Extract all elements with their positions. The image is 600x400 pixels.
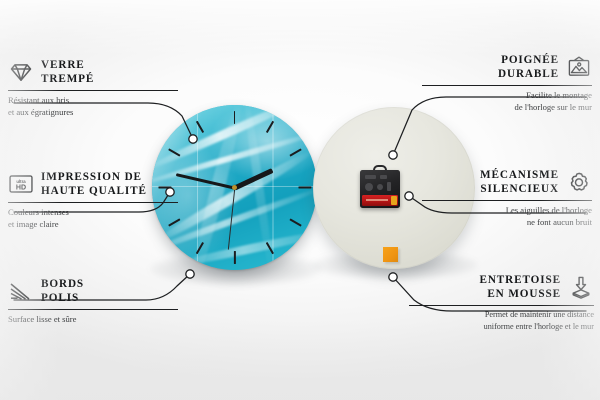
feature-divider xyxy=(8,309,178,310)
feature-heading: MÉCANISME SILENCIEUX xyxy=(422,168,592,197)
feature-divider xyxy=(422,200,592,201)
feature-entretoise-en-mousse: ENTRETOISE EN MOUSSE Permet de maintenir… xyxy=(409,273,594,332)
feature-description: Les aiguilles de l'horloge ne font aucun… xyxy=(422,204,592,228)
feature-verre-trempe: VERRE TREMPÉ Résistant aux bris et aux é… xyxy=(8,58,178,118)
feature-title: ENTRETOISE EN MOUSSE xyxy=(479,273,561,302)
feature-heading: VERRE TREMPÉ xyxy=(8,58,178,87)
feature-bords-polis: BORDS POLIS Surface lisse et sûre xyxy=(8,277,178,325)
feature-divider xyxy=(8,202,178,203)
svg-text:ultra: ultra xyxy=(16,179,26,184)
diamond-icon xyxy=(8,59,34,85)
feature-heading: ultra HD IMPRESSION DE HAUTE QUALITÉ xyxy=(8,170,178,199)
ultra-hd-icon: ultra HD xyxy=(8,171,34,197)
feature-mecanisme-silencieux: MÉCANISME SILENCIEUX Les aiguilles de l'… xyxy=(422,168,592,228)
leader-marker-bords-polis xyxy=(186,270,194,278)
leader-marker-poignee xyxy=(389,151,397,159)
feature-title: POIGNÉE DURABLE xyxy=(498,53,559,82)
feature-divider xyxy=(409,305,594,306)
gear-icon xyxy=(566,169,592,195)
leader-marker-entretoise xyxy=(389,273,397,281)
feature-heading: BORDS POLIS xyxy=(8,277,178,306)
feature-description: Facilite le montage de l'horloge sur le … xyxy=(422,89,592,113)
polished-edges-icon xyxy=(8,278,34,304)
feature-description: Surface lisse et sûre xyxy=(8,313,178,325)
feature-title: BORDS POLIS xyxy=(41,277,84,306)
feature-title: IMPRESSION DE HAUTE QUALITÉ xyxy=(41,170,147,199)
feature-divider xyxy=(422,85,592,86)
svg-text:HD: HD xyxy=(16,185,26,192)
feature-heading: ENTRETOISE EN MOUSSE xyxy=(409,273,594,302)
infographic-canvas: VERRE TREMPÉ Résistant aux bris et aux é… xyxy=(0,0,600,400)
leader-marker-verre-trempe xyxy=(189,135,197,143)
feature-description: Couleurs intenses et image claire xyxy=(8,206,178,230)
feature-poignee-durable: POIGNÉE DURABLE Facilite le montage de l… xyxy=(422,53,592,113)
feature-divider xyxy=(8,90,178,91)
press-down-layer-icon xyxy=(568,274,594,300)
hanging-frame-icon xyxy=(566,54,592,80)
leader-marker-mecanisme xyxy=(405,192,413,200)
feature-heading: POIGNÉE DURABLE xyxy=(422,53,592,82)
feature-title: VERRE TREMPÉ xyxy=(41,58,94,87)
feature-impression-haute-qualite: ultra HD IMPRESSION DE HAUTE QUALITÉ Cou… xyxy=(8,170,178,230)
feature-description: Résistant aux bris et aux égratignures xyxy=(8,94,178,118)
feature-title: MÉCANISME SILENCIEUX xyxy=(480,168,559,197)
feature-description: Permet de maintenir une distance uniform… xyxy=(409,309,594,332)
